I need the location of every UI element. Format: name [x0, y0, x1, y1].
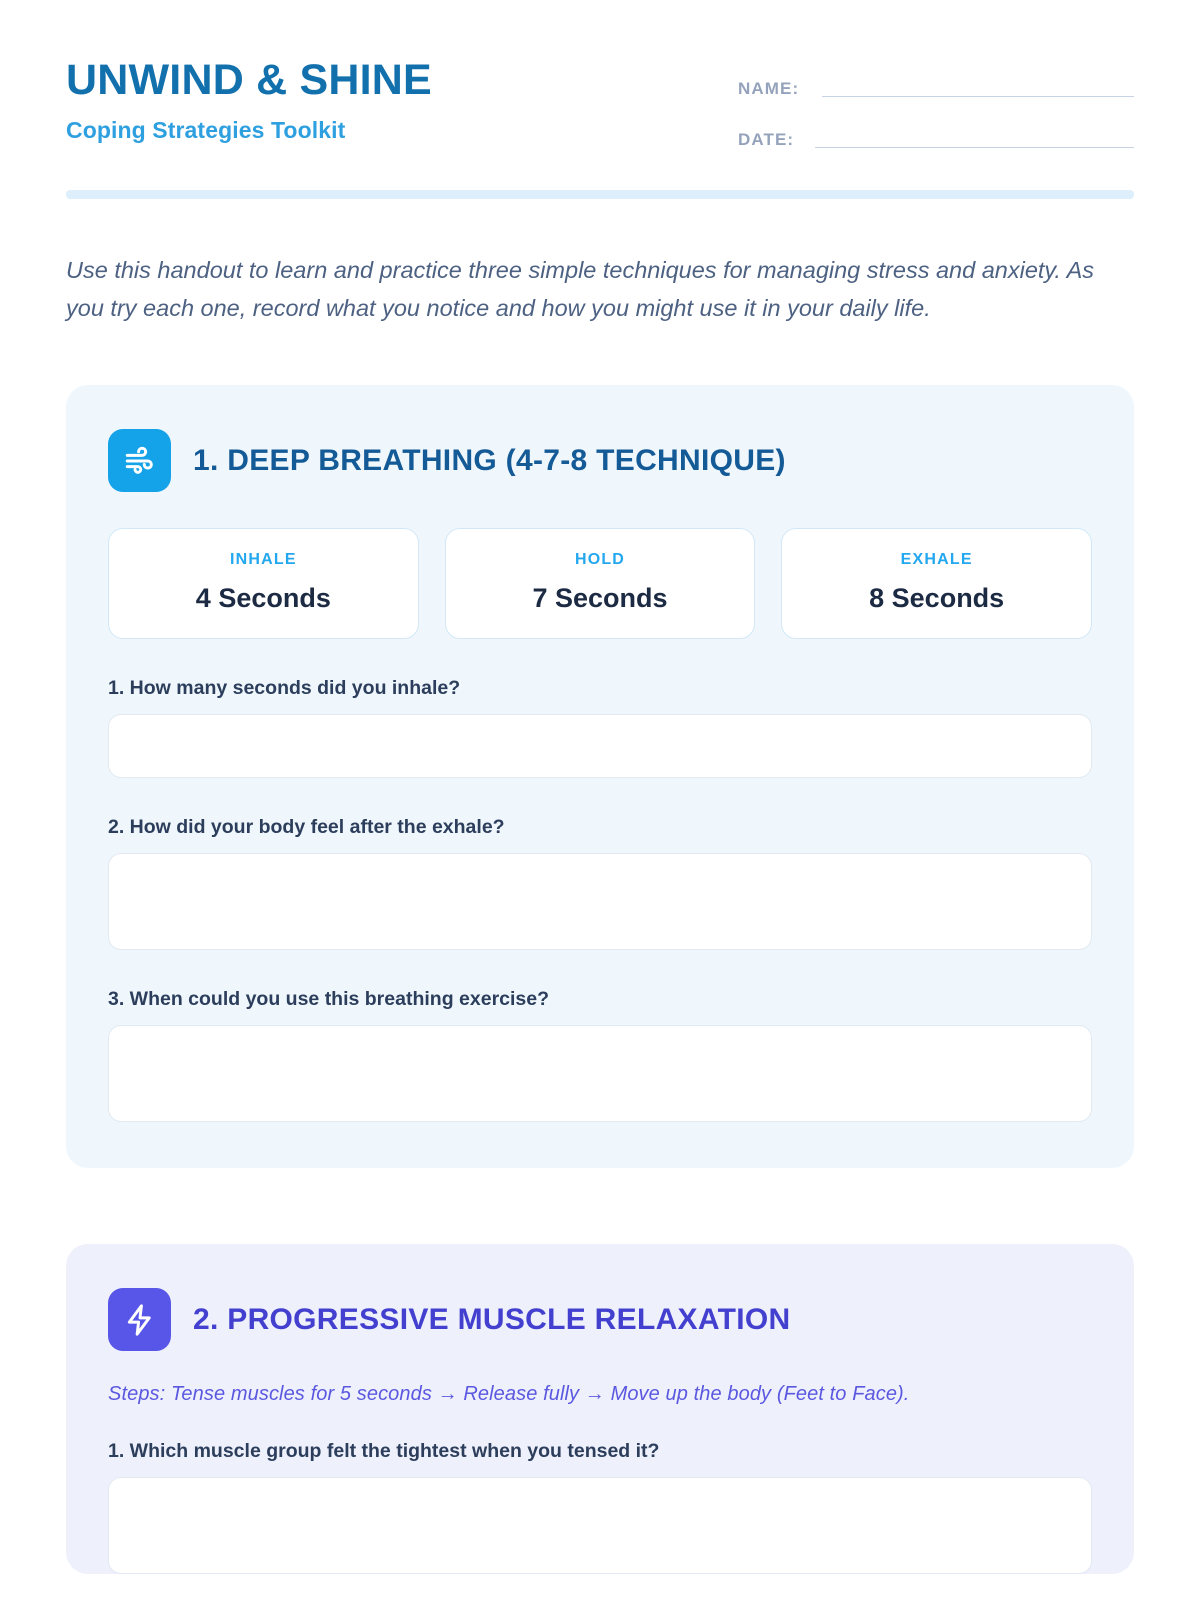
intro-paragraph: Use this handout to learn and practice t… [66, 251, 1096, 327]
name-row: NAME: [738, 74, 1134, 97]
stat-value-hold: 7 Seconds [456, 583, 745, 614]
answer-box-1-3[interactable] [108, 1025, 1092, 1122]
page-header: UNWIND & SHINE Coping Strategies Toolkit… [66, 52, 1134, 148]
stat-card-exhale: EXHALE 8 Seconds [781, 528, 1092, 639]
answer-box-1-2[interactable] [108, 853, 1092, 950]
section-1-title: 1. DEEP BREATHING (4-7-8 TECHNIQUE) [193, 444, 786, 477]
answer-box-1-1[interactable] [108, 714, 1092, 778]
stat-label-exhale: EXHALE [792, 551, 1081, 569]
date-row: DATE: [738, 125, 1134, 148]
stat-card-inhale: INHALE 4 Seconds [108, 528, 419, 639]
student-info-block: NAME: DATE: [738, 52, 1134, 148]
header-divider [66, 190, 1134, 199]
brand-block: UNWIND & SHINE Coping Strategies Toolkit [66, 52, 432, 144]
page-title: UNWIND & SHINE [66, 58, 432, 103]
question-label-2-1: 1. Which muscle group felt the tightest … [108, 1440, 1092, 1463]
stat-label-inhale: INHALE [119, 551, 408, 569]
stat-label-hold: HOLD [456, 551, 745, 569]
stat-value-exhale: 8 Seconds [792, 583, 1081, 614]
name-input[interactable] [822, 74, 1134, 97]
name-label: NAME: [738, 80, 822, 97]
stat-value-inhale: 4 Seconds [119, 583, 408, 614]
worksheet-page: UNWIND & SHINE Coping Strategies Toolkit… [0, 0, 1200, 1600]
section-progressive-muscle-relaxation: 2. PROGRESSIVE MUSCLE RELAXATION Steps: … [66, 1244, 1134, 1574]
page-subtitle: Coping Strategies Toolkit [66, 117, 432, 144]
section-1-header: 1. DEEP BREATHING (4-7-8 TECHNIQUE) [108, 429, 1092, 492]
section-deep-breathing: 1. DEEP BREATHING (4-7-8 TECHNIQUE) INHA… [66, 385, 1134, 1168]
breathing-stats: INHALE 4 Seconds HOLD 7 Seconds EXHALE 8… [108, 528, 1092, 639]
wind-icon [108, 429, 171, 492]
section-2-header: 2. PROGRESSIVE MUSCLE RELAXATION [108, 1288, 1092, 1351]
lightning-bolt-icon [108, 1288, 171, 1351]
section-2-title: 2. PROGRESSIVE MUSCLE RELAXATION [193, 1303, 790, 1336]
answer-box-2-1[interactable] [108, 1477, 1092, 1574]
section-2-steps: Steps: Tense muscles for 5 seconds → Rel… [108, 1383, 1092, 1406]
question-label-1-1: 1. How many seconds did you inhale? [108, 677, 1092, 700]
stat-card-hold: HOLD 7 Seconds [445, 528, 756, 639]
date-input[interactable] [815, 125, 1134, 148]
date-label: DATE: [738, 131, 822, 148]
question-label-1-2: 2. How did your body feel after the exha… [108, 816, 1092, 839]
question-label-1-3: 3. When could you use this breathing exe… [108, 988, 1092, 1011]
